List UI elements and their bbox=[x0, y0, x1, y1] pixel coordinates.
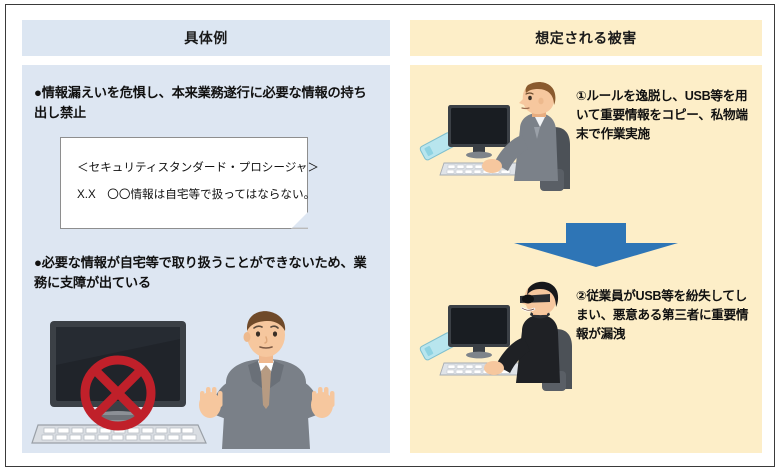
bullet-business-impact: ●必要な情報が自宅等で取り扱うことができないため、業務に支障が出ている bbox=[34, 253, 378, 294]
illustration-hacker-with-usb bbox=[416, 277, 584, 397]
businessman-shrugging-icon bbox=[199, 311, 335, 449]
damage-step-2-text: ②従業員がUSB等を紛失してしまい、悪意ある第三者に重要情報が漏洩 bbox=[576, 287, 752, 344]
page-fold-icon bbox=[291, 212, 308, 229]
panel-body-examples: ●情報漏えいを危惧し、本来業務遂行に必要な情報の持ち出し禁止 ＜セキュリティスタ… bbox=[22, 65, 390, 453]
down-arrow-icon bbox=[510, 223, 682, 269]
panel-header-examples: 具体例 bbox=[22, 20, 390, 56]
desktop-monitor-icon bbox=[448, 105, 510, 158]
column-examples: 具体例 ●情報漏えいを危惧し、本来業務遂行に必要な情報の持ち出し禁止 ＜セキュリ… bbox=[22, 20, 390, 453]
column-expected-damage: 想定される被害 bbox=[410, 20, 762, 453]
desktop-monitor-icon bbox=[50, 321, 186, 423]
policy-document-sheet: ＜セキュリティスタンダード・プロシージャ＞ X.X 〇〇情報は自宅等で扱ってはな… bbox=[60, 137, 308, 229]
damage-step-1-text: ①ルールを逸脱し、USB等を用いて重要情報をコピー、私物端末で作業実施 bbox=[576, 87, 752, 144]
illustration-employee-copying-to-usb bbox=[416, 77, 584, 197]
document-clause: X.X 〇〇情報は自宅等で扱ってはならない。 bbox=[77, 186, 315, 202]
panel-header-expected-damage: 想定される被害 bbox=[410, 20, 762, 56]
illustration-blocked-pc-and-worker bbox=[30, 309, 374, 449]
panel-body-expected-damage: ①ルールを逸脱し、USB等を用いて重要情報をコピー、私物端末で作業実施 bbox=[410, 65, 762, 453]
document-title: ＜セキュリティスタンダード・プロシージャ＞ bbox=[77, 159, 319, 175]
bullet-policy-prohibition: ●情報漏えいを危惧し、本来業務遂行に必要な情報の持ち出し禁止 bbox=[34, 83, 378, 124]
desktop-monitor-icon bbox=[448, 305, 510, 358]
slide-canvas: 具体例 ●情報漏えいを危惧し、本来業務遂行に必要な情報の持ち出し禁止 ＜セキュリ… bbox=[0, 0, 780, 476]
